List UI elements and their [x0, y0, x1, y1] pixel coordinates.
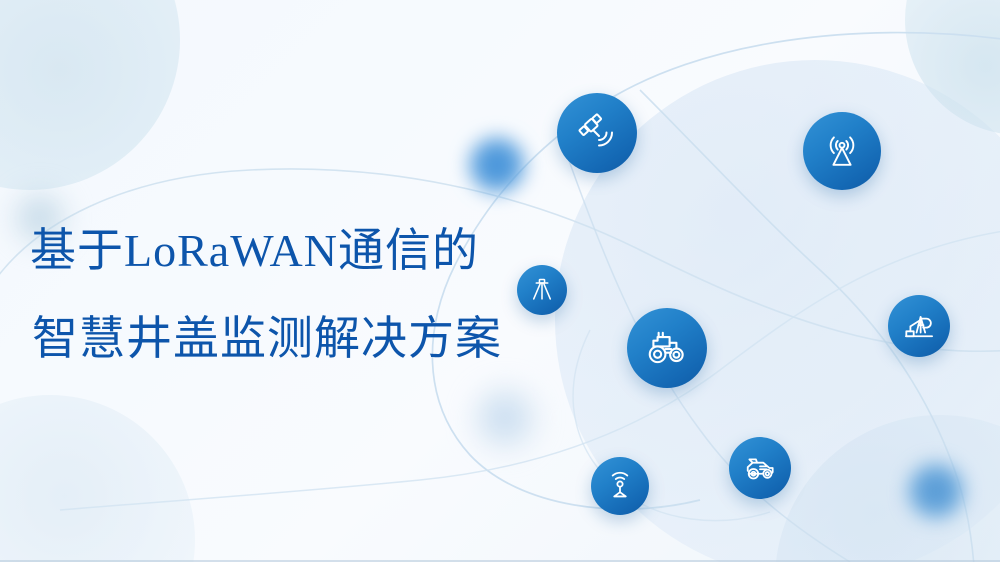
- soft-circle-bottom-left: [0, 395, 195, 562]
- title-line-secondary: 智慧井盖监测解决方案: [32, 316, 590, 362]
- title-block: 基于LoRaWAN通信的 智慧井盖监测解决方案: [30, 228, 590, 362]
- radio-tower-icon: [821, 130, 863, 172]
- wireless-sensor-icon: [603, 469, 637, 503]
- soft-circle-top-left: [0, 0, 180, 190]
- tractor-icon: [644, 325, 690, 371]
- soft-circle-bottom-right: [775, 415, 1000, 562]
- icon-node-oil-pumpjack[interactable]: [888, 295, 950, 357]
- icon-node-harvester-vehicle[interactable]: [729, 437, 791, 499]
- harvester-vehicle-icon: [742, 450, 778, 486]
- accent-dot-below-title: [472, 385, 538, 451]
- satellite-icon: [575, 111, 619, 155]
- soft-circle-top-right: [905, 0, 1000, 135]
- slide-canvas: 基于LoRaWAN通信的 智慧井盖监测解决方案: [0, 0, 1000, 562]
- icon-node-tractor[interactable]: [627, 308, 707, 388]
- title-line-primary: 基于LoRaWAN通信的: [30, 228, 590, 274]
- icon-node-satellite[interactable]: [557, 93, 637, 173]
- icon-node-radio-tower[interactable]: [803, 112, 881, 190]
- accent-dot-right-lower: [907, 462, 965, 520]
- accent-dot-near-satellite: [468, 136, 526, 194]
- icon-node-wireless-sensor[interactable]: [591, 457, 649, 515]
- oil-pumpjack-icon: [901, 308, 937, 344]
